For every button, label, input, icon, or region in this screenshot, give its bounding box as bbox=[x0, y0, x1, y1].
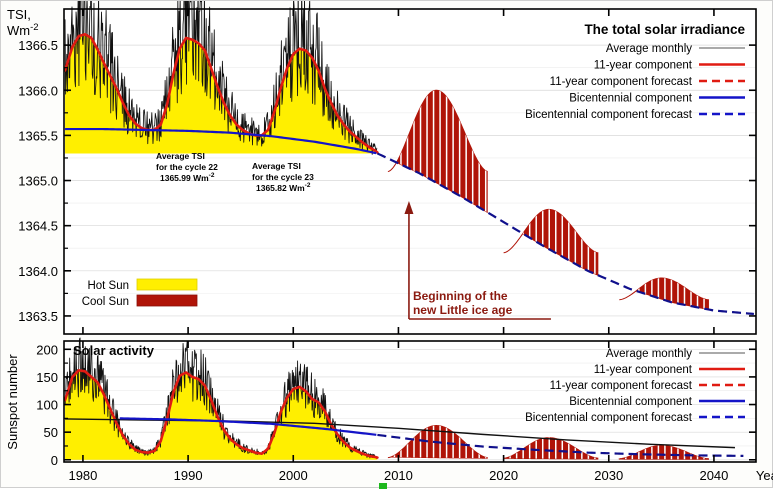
legend-label: Average monthly bbox=[606, 43, 692, 55]
y-tick-label: 150 bbox=[36, 370, 58, 385]
legend-label: Bicentennial component forecast bbox=[525, 412, 693, 424]
x-axis-unit-label: Years bbox=[756, 468, 773, 483]
callout-line1: Beginning of the bbox=[413, 289, 508, 303]
bottom-marker bbox=[379, 483, 387, 489]
legend-label: 11-year component forecast bbox=[550, 380, 693, 392]
y-tick-label: 200 bbox=[36, 342, 58, 357]
y-tick-label: 1364.0 bbox=[18, 264, 58, 279]
annotation-line1: Average TSI bbox=[252, 161, 301, 171]
x-tick-label: 1980 bbox=[68, 468, 97, 483]
y-tick-label: 0 bbox=[51, 453, 58, 468]
annotation-line2: for the cycle 23 bbox=[252, 172, 314, 182]
y-tick-label: 1366.0 bbox=[18, 83, 58, 98]
y-tick-label: 1366.5 bbox=[18, 38, 58, 53]
legend-label: 11-year component forecast bbox=[550, 76, 693, 88]
x-tick-label: 2030 bbox=[594, 468, 623, 483]
y-tick-label: 1363.5 bbox=[18, 309, 58, 324]
solar-activity-title: Solar activity bbox=[73, 343, 155, 358]
legend-label: Bicentennial component bbox=[569, 396, 693, 408]
legend-label: Bicentennial component bbox=[569, 93, 693, 105]
x-tick-label: 2020 bbox=[489, 468, 518, 483]
swatch-label: Hot Sun bbox=[87, 280, 129, 292]
annotation-exponent: -2 bbox=[209, 172, 215, 179]
y-tick-label: 1365.0 bbox=[18, 174, 58, 189]
legend-label: Average monthly bbox=[606, 348, 692, 360]
y-tick-label: 100 bbox=[36, 398, 58, 413]
y-tick-label: 1365.5 bbox=[18, 128, 58, 143]
x-tick-label: 2000 bbox=[279, 468, 308, 483]
swatch-label: Cool Sun bbox=[82, 296, 129, 308]
swatch-box bbox=[137, 295, 197, 306]
annotation-line3: 1365.82 Wm-2 bbox=[256, 182, 311, 193]
swatch-box bbox=[137, 279, 197, 290]
y-axis-title-line1: TSI, bbox=[7, 7, 31, 22]
callout-line2: new Little ice age bbox=[413, 303, 513, 317]
chart-canvas: 1363.51364.01364.51365.01365.51366.01366… bbox=[1, 1, 773, 489]
solar-irradiance-figure: 1363.51364.01364.51365.01365.51366.01366… bbox=[0, 0, 773, 488]
upper-y-axis-title: TSI,Wm-2 bbox=[7, 7, 39, 38]
annotation-line3: 1365.99 Wm-2 bbox=[160, 172, 215, 183]
green-square-marker bbox=[379, 483, 387, 489]
lower-y-axis-title: Sunspot number bbox=[5, 354, 20, 450]
legend-title: The total solar irradiance bbox=[584, 22, 745, 37]
y-axis-title-exponent: -2 bbox=[30, 22, 38, 33]
legend-label: Bicentennial component forecast bbox=[525, 109, 693, 121]
legend-label: 11-year component bbox=[594, 60, 693, 72]
x-tick-label: 1990 bbox=[174, 468, 203, 483]
annotation-exponent: -2 bbox=[305, 182, 311, 189]
x-axis-labels: 1980199020002010202020302040Years bbox=[68, 468, 773, 483]
x-tick-label: 2010 bbox=[384, 468, 413, 483]
x-tick-label: 2040 bbox=[699, 468, 728, 483]
lower-panel-title: Solar activity bbox=[73, 343, 155, 358]
annotation-line1: Average TSI bbox=[156, 151, 205, 161]
legend-label: 11-year component bbox=[594, 364, 693, 376]
y-axis-title-line2: Wm-2 bbox=[7, 22, 39, 38]
y-axis-title-sunspot: Sunspot number bbox=[5, 354, 20, 450]
annotation-line2: for the cycle 22 bbox=[156, 162, 218, 172]
y-tick-label: 1364.5 bbox=[18, 219, 58, 234]
y-tick-label: 50 bbox=[44, 425, 58, 440]
